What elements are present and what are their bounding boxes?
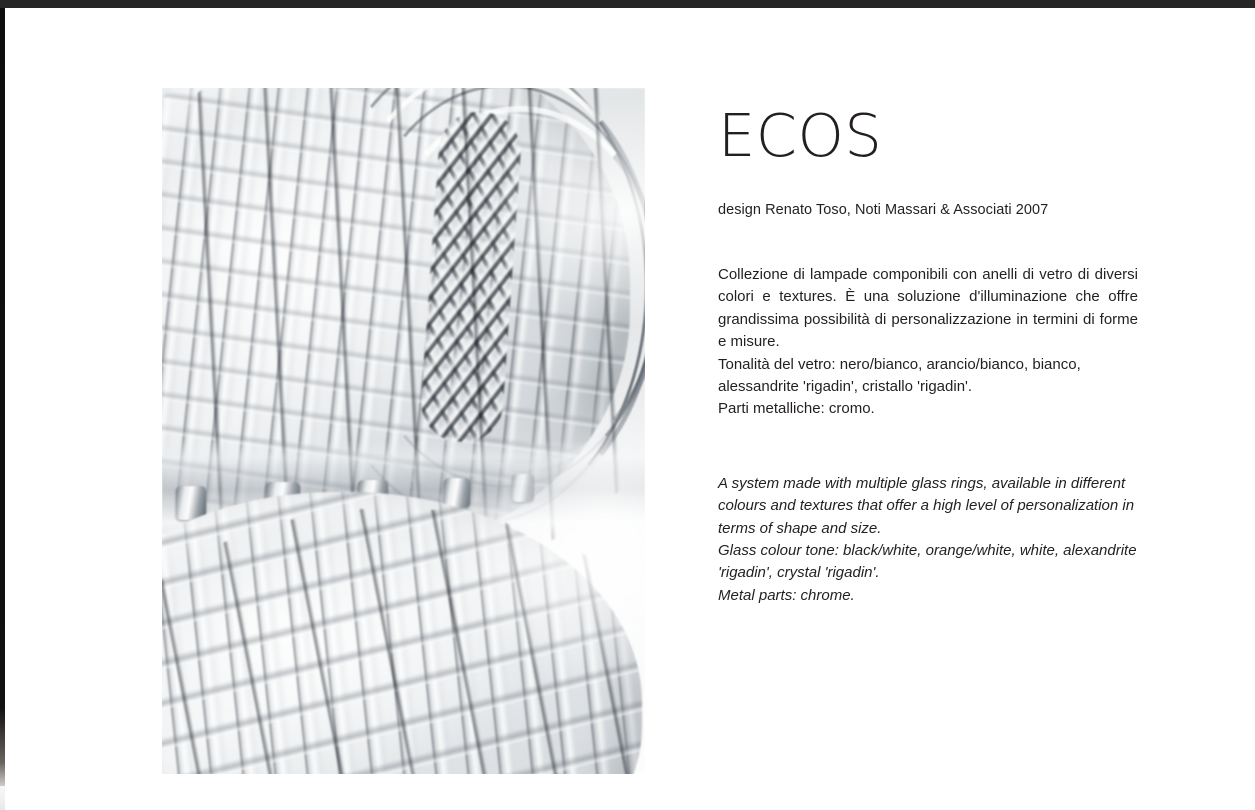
description-english-paragraph: A system made with multiple glass rings,… bbox=[718, 473, 1138, 540]
viewer-left-edge bbox=[0, 8, 5, 786]
product-photo bbox=[162, 88, 645, 774]
photo-canvas bbox=[162, 88, 645, 774]
description-english: A system made with multiple glass rings,… bbox=[718, 421, 1138, 607]
description-italian-paragraph: Collezione di lampade componibili con an… bbox=[718, 264, 1138, 354]
glass-rib-lines-lower bbox=[162, 508, 645, 774]
glass-tones-italian: Tonalità del vetro: nero/bianco, arancio… bbox=[718, 354, 1138, 399]
text-column: ECOS design Renato Toso, Noti Massari & … bbox=[718, 88, 1138, 607]
catalog-page: ECOS design Renato Toso, Noti Massari & … bbox=[5, 8, 1255, 810]
product-title: ECOS bbox=[718, 88, 1138, 165]
viewer-top-bar bbox=[0, 0, 1255, 8]
metal-parts-english: Metal parts: chrome. bbox=[718, 585, 1138, 607]
document-viewer: ECOS design Renato Toso, Noti Massari & … bbox=[0, 0, 1255, 810]
description-italian: Collezione di lampade componibili con an… bbox=[718, 218, 1138, 421]
glass-tones-english: Glass colour tone: black/white, orange/w… bbox=[718, 540, 1138, 585]
metal-parts-italian: Parti metalliche: cromo. bbox=[718, 398, 1138, 420]
designer-credit: design Renato Toso, Noti Massari & Assoc… bbox=[718, 165, 1138, 218]
